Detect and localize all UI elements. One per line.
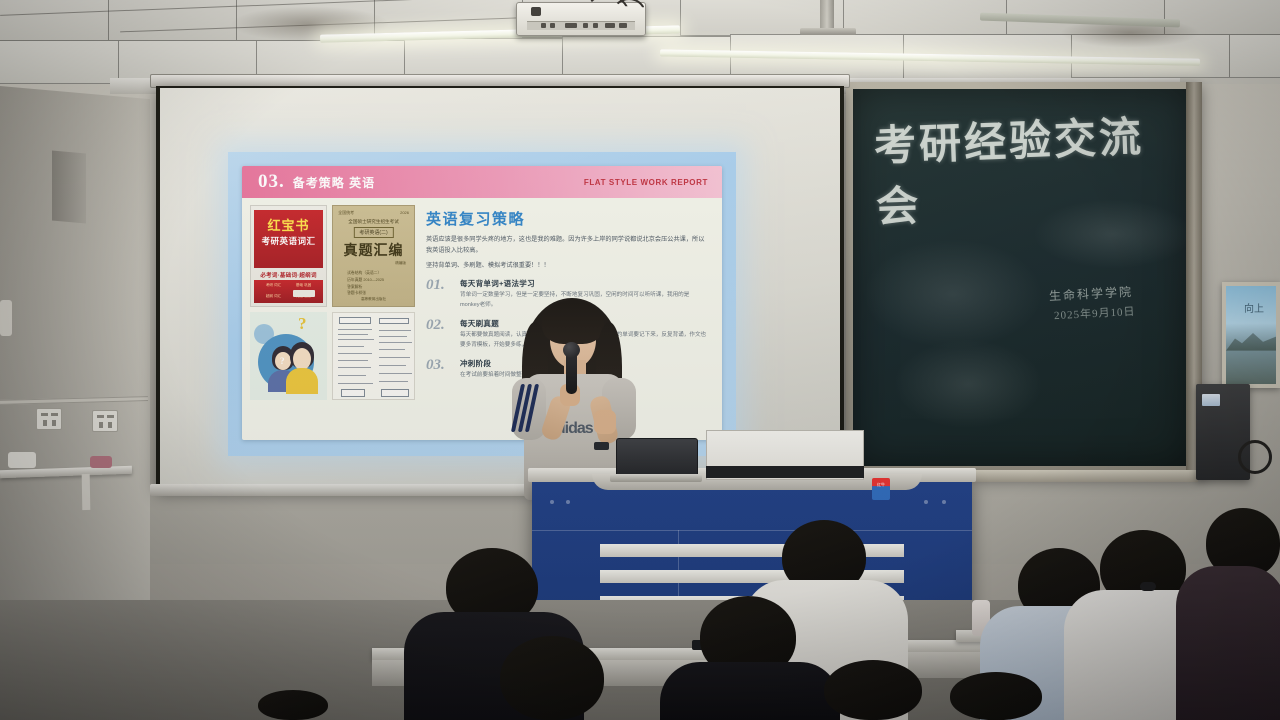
book-tan-subtitle: 全国硕士研究生招生考试 bbox=[333, 219, 414, 225]
book-red-tagline: 必考词·基础词·超纲词 bbox=[251, 271, 326, 279]
book-tan-list-2: 答案解析 bbox=[347, 284, 384, 291]
wall-outlet-2[interactable] bbox=[92, 410, 118, 432]
shelf-object-red bbox=[90, 456, 112, 468]
wall-pillar bbox=[52, 151, 86, 224]
slide-paragraph-0: 英语应该是很多同学头疼的地方，这也是我的难题。因为许多上岸的同学说都说北京会压公… bbox=[426, 234, 708, 257]
wall-outlet-1[interactable] bbox=[36, 408, 62, 430]
audience-head bbox=[950, 672, 1042, 720]
presenter-hair-front bbox=[542, 300, 604, 344]
blackboard: 考研经验交流会 生命科学学院 2025年9月10日 bbox=[853, 89, 1189, 466]
presenter-wristwatch bbox=[594, 442, 609, 450]
blackboard-subtitle: 生命科学学院 bbox=[1049, 283, 1134, 304]
book-tan-note: 精编版 bbox=[395, 261, 406, 266]
blackboard-title: 考研经验交流会 bbox=[873, 102, 1189, 235]
book-tan-list-0: 试卷结构（英语二） bbox=[347, 270, 384, 277]
projected-slide: 03. 备考策略 英语 FLAT STYLE WORK REPORT 红宝书 考… bbox=[228, 152, 736, 456]
poster-calligraphy: 向上 bbox=[1244, 300, 1264, 315]
blackboard-frame: 考研经验交流会 生命科学学院 2025年9月10日 bbox=[846, 82, 1201, 476]
podium-monitor-bezel bbox=[706, 466, 864, 478]
book-tan-header-right: 2026 bbox=[400, 210, 409, 216]
wall-pipe bbox=[0, 300, 12, 336]
poster-mountains bbox=[1226, 331, 1276, 351]
book-tan-header-left: 全国统考 bbox=[338, 210, 354, 216]
audience-head bbox=[500, 636, 604, 720]
slide-cartoon-illustration: ? ? bbox=[250, 312, 327, 400]
book-red-chip-2: 超纲 词汇 bbox=[260, 294, 287, 303]
podium-laptop-base bbox=[610, 474, 702, 482]
slide-card: 03. 备考策略 英语 FLAT STYLE WORK REPORT 红宝书 考… bbox=[242, 166, 722, 440]
slide-item-number-2: 03. bbox=[426, 358, 460, 373]
eyeglasses bbox=[1140, 582, 1156, 591]
blackboard-date: 2025年9月10日 bbox=[1053, 303, 1135, 323]
book-cover-red: 红宝书 考研英语词汇 必考词·基础词·超纲词 考研 词汇 基础 巩固 bbox=[250, 205, 327, 307]
left-wall bbox=[0, 86, 150, 619]
wall-poster-landscape: 向上 bbox=[1222, 282, 1280, 388]
shelf-bracket bbox=[82, 474, 91, 510]
podium-laptop[interactable] bbox=[616, 438, 698, 476]
slide-notes-photo bbox=[332, 312, 415, 400]
slide-section-number: 03. bbox=[258, 171, 285, 193]
slide-header: 03. 备考策略 英语 FLAT STYLE WORK REPORT bbox=[242, 166, 722, 198]
slide-section-title: 备考策略 英语 bbox=[293, 174, 375, 191]
shelf-object-paper bbox=[8, 452, 36, 468]
book-tan-publisher: 高等教育出版社 bbox=[333, 297, 414, 302]
av-speaker-badge bbox=[1202, 394, 1220, 406]
book-red-eraser-graphic bbox=[293, 290, 315, 297]
audience-head bbox=[824, 660, 922, 720]
slide-item-number-0: 01. bbox=[426, 278, 460, 293]
book-red-subtitle: 考研英语词汇 bbox=[254, 235, 323, 247]
book-tan-list-1: 历年真题 2010—2025 bbox=[347, 277, 384, 284]
book-red-title: 红宝书 bbox=[254, 215, 323, 234]
slide-item-heading-0: 每天背单词+语法学习 bbox=[460, 278, 708, 289]
slide-images-column: 红宝书 考研英语词汇 必考词·基础词·超纲词 考研 词汇 基础 巩固 bbox=[242, 198, 420, 440]
av-cable-coil bbox=[1238, 440, 1272, 474]
drink-can-label: 红牛 bbox=[872, 482, 890, 488]
projector-cable-2 bbox=[612, 0, 646, 14]
book-tan-boxed-label: 考研英语(二) bbox=[353, 227, 393, 238]
slide-paragraph-1: 坚持背单词、多刷题、模拟考试很重要！！！ bbox=[426, 260, 708, 271]
slide-brand-label: FLAT STYLE WORK REPORT bbox=[584, 178, 708, 187]
slide-main-title: 英语复习策略 bbox=[426, 208, 708, 229]
presenter-shirt-stripes-left bbox=[516, 384, 542, 432]
audience-body bbox=[660, 662, 840, 720]
microphone-head bbox=[563, 342, 580, 358]
book-tan-title: 真题汇编 bbox=[333, 240, 414, 260]
projector-knob bbox=[531, 7, 541, 16]
slide-item-number-1: 02. bbox=[426, 318, 460, 333]
audience-body bbox=[1176, 566, 1280, 720]
cartoon-small-question: ? bbox=[280, 356, 285, 366]
desk-drink-can[interactable]: 红牛 bbox=[872, 478, 890, 500]
projector-mount bbox=[820, 0, 834, 30]
book-red-chip-0: 考研 词汇 bbox=[260, 283, 287, 292]
classroom-scene: 考研经验交流会 生命科学学院 2025年9月10日 向上 03. 备考策略 英语… bbox=[0, 0, 1280, 720]
projector-mount-plate bbox=[800, 28, 856, 35]
presenter-hand-right bbox=[594, 410, 616, 434]
slide-body: 红宝书 考研英语词汇 必考词·基础词·超纲词 考研 词汇 基础 巩固 bbox=[242, 198, 722, 440]
audience-head bbox=[258, 690, 328, 720]
book-cover-tan: 全国统考 2026 全国硕士研究生招生考试 考研英语(二) 真题汇编 精编版 试… bbox=[332, 205, 415, 307]
cartoon-question-mark: ? bbox=[298, 314, 307, 334]
